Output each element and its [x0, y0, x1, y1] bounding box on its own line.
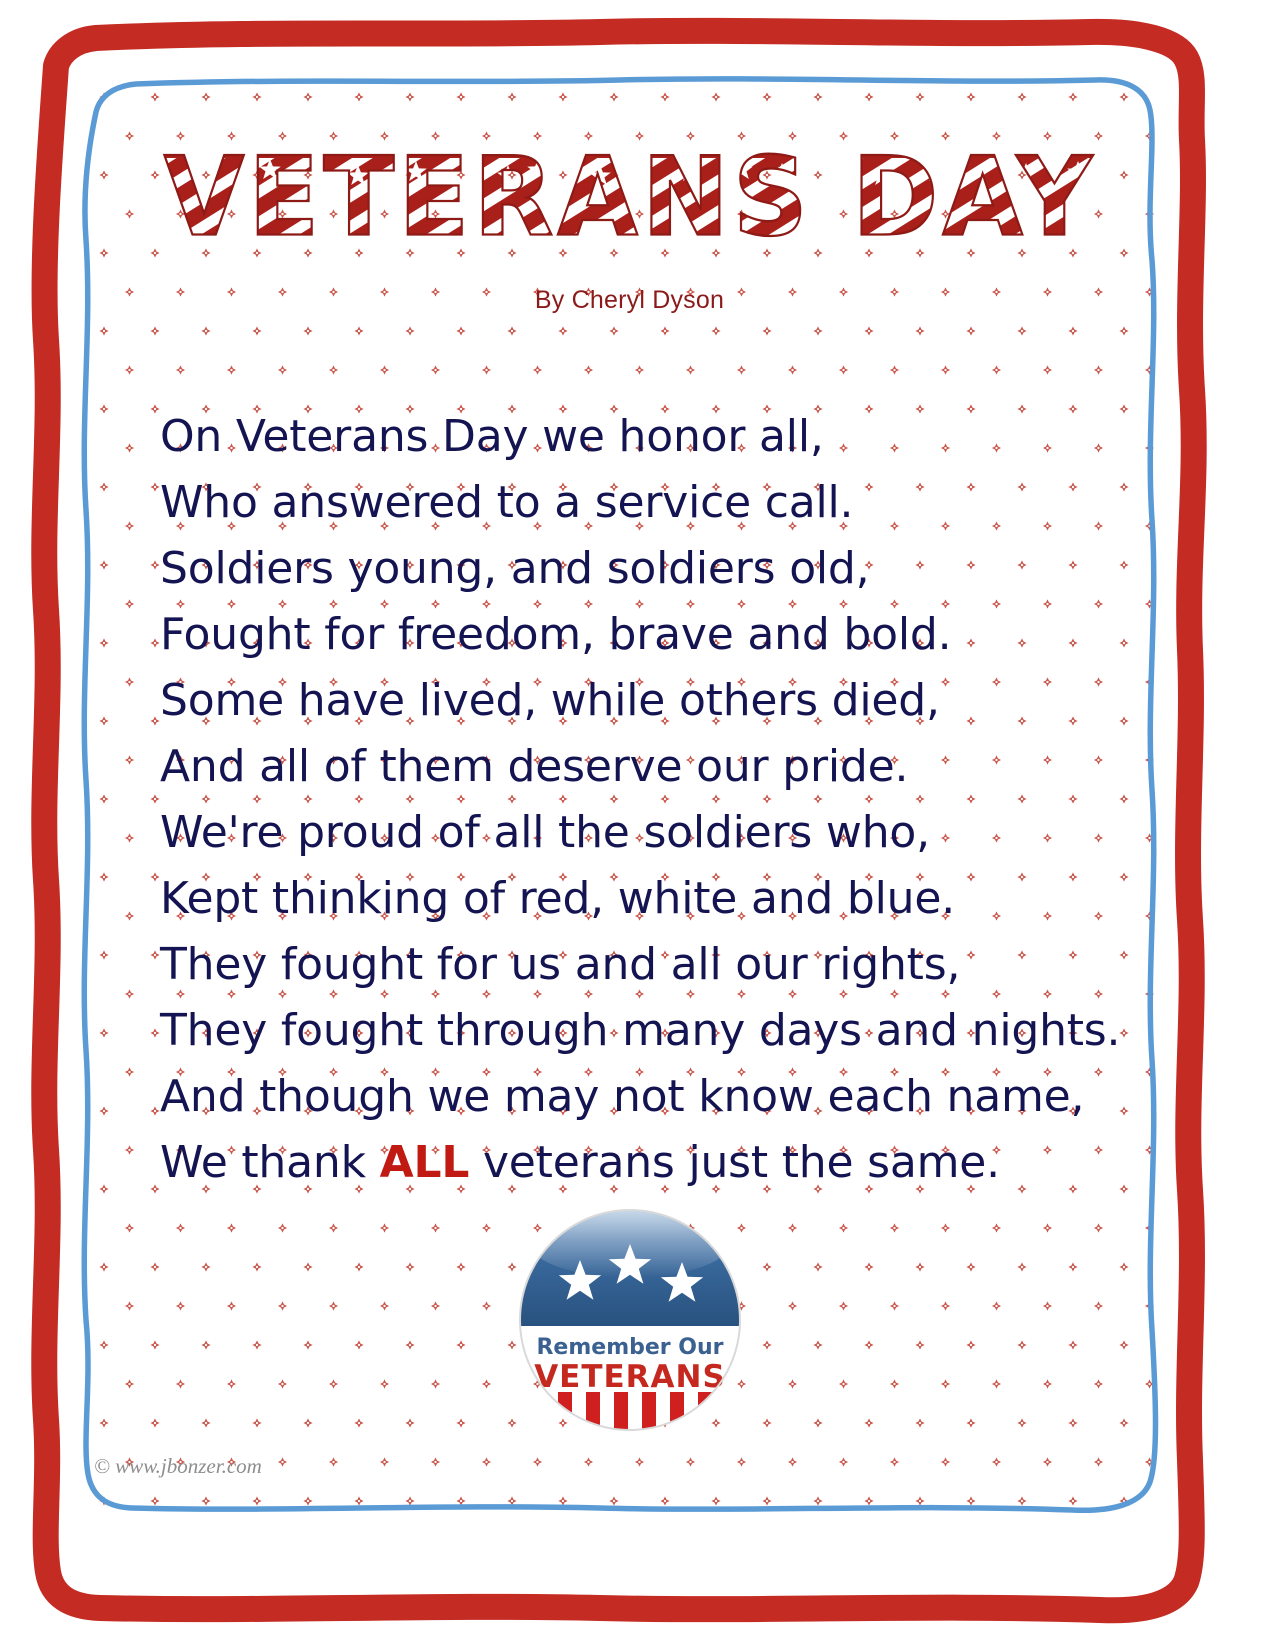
- final-line-before: We thank: [160, 1137, 380, 1188]
- poem-line: Fought for freedom, brave and bold.: [160, 602, 1170, 668]
- page-title: VETERANS DAY: [92, 134, 1167, 264]
- poem-line: They fought for us and all our rights,: [160, 932, 1170, 998]
- poem-line-final: We thank ALL veterans just the same.: [160, 1130, 1170, 1196]
- poem-body: On Veterans Day we honor all, Who answer…: [160, 404, 1170, 1196]
- badge-main-text: VETERANS: [534, 1359, 726, 1395]
- poem-line: We're proud of all the soldiers who,: [160, 800, 1170, 866]
- badge-top-text: Remember Our: [536, 1335, 723, 1360]
- poem-line: Soldiers young, and soldiers old,: [160, 536, 1170, 602]
- final-line-emphasis: ALL: [380, 1137, 470, 1188]
- remember-our-veterans-badge-icon: Remember Our VETERANS: [514, 1204, 746, 1436]
- final-line-after: veterans just the same.: [469, 1137, 1000, 1188]
- poem-line: And all of them deserve our pride.: [160, 734, 1170, 800]
- poem-line: Some have lived, while others died,: [160, 668, 1170, 734]
- poem-line: They fought through many days and nights…: [160, 998, 1170, 1064]
- poster-content: VETERANS DAY: [92, 84, 1167, 1534]
- poster-page: VETERANS DAY: [0, 0, 1275, 1651]
- title-text-outline: VETERANS DAY: [163, 134, 1095, 261]
- badge-container: Remember Our VETERANS: [92, 1204, 1167, 1436]
- footer-credit: © www.jbonzer.com: [94, 1454, 262, 1479]
- poem-line: Kept thinking of red, white and blue.: [160, 866, 1170, 932]
- title-flag-text: VETERANS DAY: [130, 134, 1130, 264]
- poem-line: Who answered to a service call.: [160, 470, 1170, 536]
- poem-line: On Veterans Day we honor all,: [160, 404, 1170, 470]
- author-byline: By Cheryl Dyson: [92, 286, 1167, 315]
- poem-line: And though we may not know each name,: [160, 1064, 1170, 1130]
